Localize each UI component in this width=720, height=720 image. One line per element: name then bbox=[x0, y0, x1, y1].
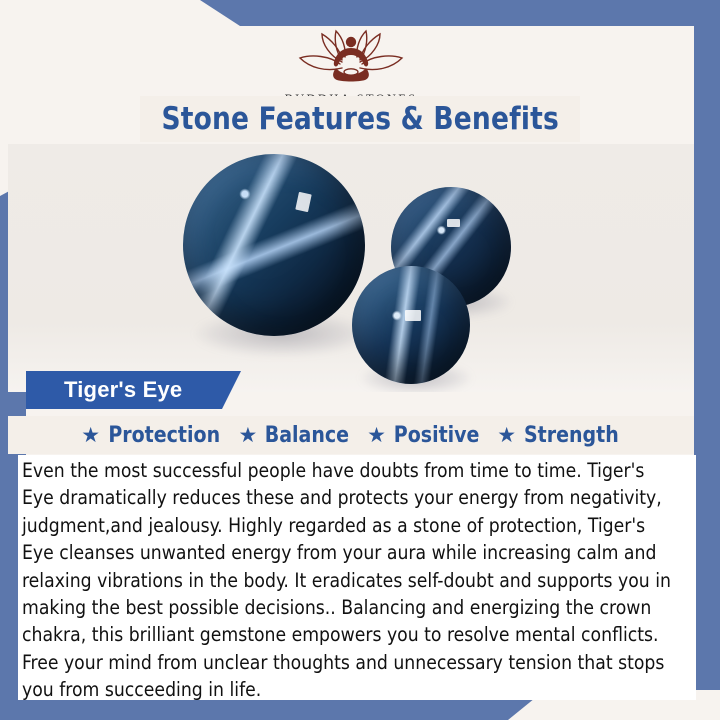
stone-sphere-small bbox=[352, 266, 470, 384]
benefit-item-positive: ★ Positive bbox=[360, 423, 488, 448]
stone-name-banner: Tiger's Eye bbox=[26, 371, 241, 409]
small-sphere-highlight bbox=[405, 310, 421, 321]
medium-sphere-highlight bbox=[447, 219, 460, 227]
benefit-label: Protection bbox=[108, 423, 220, 448]
page-title-band: Stone Features & Benefits bbox=[140, 96, 580, 142]
star-icon: ★ bbox=[497, 425, 516, 446]
benefit-label: Balance bbox=[265, 423, 349, 448]
stone-name: Tiger's Eye bbox=[64, 377, 182, 403]
benefits-list: ★ Protection ★ Balance ★ Positive ★ Stre… bbox=[8, 416, 694, 454]
product-info-card: BUDDHA STONES Stone Features & Benefits … bbox=[0, 0, 720, 720]
frame-top-accent bbox=[0, 0, 720, 26]
benefit-item-balance: ★ Balance bbox=[231, 423, 358, 448]
stone-photo bbox=[8, 144, 694, 392]
stone-description: Even the most successful people have dou… bbox=[18, 455, 696, 700]
frame-right-accent bbox=[694, 0, 720, 690]
page-title: Stone Features & Benefits bbox=[161, 101, 558, 137]
benefit-item-protection: ★ Protection bbox=[74, 423, 229, 448]
star-icon: ★ bbox=[367, 425, 386, 446]
description-text: Even the most successful people have dou… bbox=[22, 457, 675, 704]
star-icon: ★ bbox=[81, 425, 100, 446]
star-icon: ★ bbox=[238, 425, 257, 446]
lotus-meditation-icon bbox=[292, 28, 410, 90]
large-sphere-highlight bbox=[295, 192, 311, 212]
stone-sphere-large bbox=[183, 154, 365, 336]
benefit-item-strength: ★ Strength bbox=[490, 423, 628, 448]
benefit-label: Positive bbox=[394, 423, 480, 448]
benefit-label: Strength bbox=[524, 423, 619, 448]
